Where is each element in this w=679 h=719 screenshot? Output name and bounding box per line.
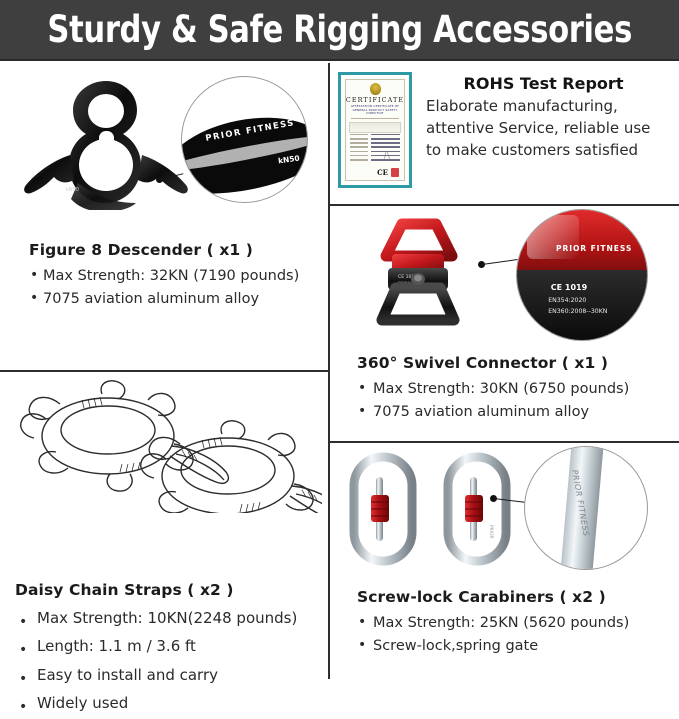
certificate-title: CERTIFICATE: [346, 96, 404, 104]
panel-rohs-test-report: CERTIFICATE ATTESTATION CERTIFICATE OF G…: [330, 63, 679, 204]
list-item: Easy to install and carry: [15, 663, 325, 687]
certificate-subtitle: ATTESTATION CERTIFICATE OF GENERAL PRODU…: [346, 105, 404, 116]
panel-grid: kN50 PRIOR FITNESS kN50 Figure 8 Descend…: [0, 63, 679, 679]
swivel-standard-1: EN354:2020: [548, 297, 586, 304]
panel-screw-lock-carabiners: PRIOR PRIOR FITNESS Screw-lock Carabiner…: [330, 443, 679, 679]
swivel-standard-2: EN360:2008--30KN: [548, 308, 607, 315]
certificate-signature: [376, 152, 398, 160]
list-item: 7075 aviation aluminum alloy: [29, 289, 309, 310]
list-item: Max Strength: 25KN (5620 pounds): [357, 613, 669, 634]
certificate-rule: [351, 118, 400, 119]
carabiners-image: PRIOR: [346, 451, 526, 567]
panel-swivel-connector: CE 1019 EN354:2020 PRIOR FITNESS CE 1019…: [330, 206, 679, 441]
rohs-description: Elaborate manufacturing, attentive Servi…: [426, 96, 661, 162]
figure-8-zoom-callout: PRIOR FITNESS kN50: [181, 76, 308, 203]
list-item: Length: 1.1 m / 3.6 ft: [15, 634, 325, 658]
certificate-footer: CE: [346, 168, 404, 177]
rohs-content: CERTIFICATE ATTESTATION CERTIFICATE OF G…: [338, 72, 661, 188]
svg-text:kN50: kN50: [66, 187, 79, 193]
figure-8-descender-image: kN50: [18, 75, 193, 210]
certificate-row: [350, 146, 400, 148]
svg-text:PRIOR: PRIOR: [488, 525, 494, 539]
rohs-heading: ROHS Test Report: [426, 74, 661, 93]
list-item: Max Strength: 32KN (7190 pounds): [29, 266, 309, 287]
list-item: 7075 aviation aluminum alloy: [357, 402, 667, 423]
daisy-title: Daisy Chain Straps ( x2 ): [15, 581, 234, 599]
infographic-page: Sturdy & Safe Rigging Accessories: [0, 0, 679, 679]
carabiners-title: Screw-lock Carabiners ( x2 ): [357, 588, 606, 606]
certificate-seal-icon: [370, 83, 381, 95]
swivel-spec-list: Max Strength: 30KN (6750 pounds) 7075 av…: [357, 379, 667, 424]
page-header: Sturdy & Safe Rigging Accessories: [0, 0, 679, 61]
swivel-black-body-graphic: [517, 270, 647, 340]
certificate-logo-icon: [391, 168, 399, 177]
carabiners-svg: PRIOR: [346, 451, 526, 567]
daisy-chain-straps-svg: [6, 378, 322, 513]
list-item: Max Strength: 30KN (6750 pounds): [357, 379, 667, 400]
certificate-inner: CERTIFICATE ATTESTATION CERTIFICATE OF G…: [345, 79, 405, 181]
list-item: Screw-lock,spring gate: [357, 636, 669, 657]
certificate-image: CERTIFICATE ATTESTATION CERTIFICATE OF G…: [338, 72, 412, 188]
swivel-title: 360° Swivel Connector ( x1 ): [357, 354, 608, 372]
swivel-connector-svg: CE 1019 EN354:2020: [358, 216, 488, 331]
certificate-highlight-block: [349, 122, 401, 133]
page-title: Sturdy & Safe Rigging Accessories: [47, 11, 632, 48]
figure-8-descender-svg: kN50: [18, 75, 193, 210]
panel-daisy-chain-straps: Daisy Chain Straps ( x2 ) Max Strength: …: [0, 372, 328, 679]
list-item: Max Strength: 10KN(2248 pounds): [15, 606, 325, 630]
list-item: Widely used: [15, 691, 325, 715]
certificate-row: [350, 138, 400, 140]
daisy-chain-straps-image: [6, 378, 322, 513]
figure-8-title: Figure 8 Descender ( x1 ): [29, 241, 253, 259]
swivel-connector-image: CE 1019 EN354:2020: [358, 216, 488, 331]
swivel-ce-engraving: CE 1019: [551, 283, 587, 292]
swivel-brand-engraving: PRIOR FITNESS: [556, 244, 632, 253]
figure-8-spec-list: Max Strength: 32KN (7190 pounds) 7075 av…: [29, 266, 309, 311]
panel-figure-8-descender: kN50 PRIOR FITNESS kN50 Figure 8 Descend…: [0, 63, 328, 370]
certificate-row: [350, 142, 400, 144]
daisy-spec-list: Max Strength: 10KN(2248 pounds) Length: …: [15, 606, 325, 719]
rohs-text-block: ROHS Test Report Elaborate manufacturing…: [426, 72, 661, 188]
certificate-row: [350, 134, 400, 136]
ce-mark-icon: CE: [377, 168, 388, 177]
carabiner-zoom-callout: PRIOR FITNESS: [524, 446, 648, 570]
carabiners-spec-list: Max Strength: 25KN (5620 pounds) Screw-l…: [357, 613, 669, 658]
swivel-zoom-callout: PRIOR FITNESS CE 1019 EN354:2020 EN360:2…: [516, 209, 648, 341]
